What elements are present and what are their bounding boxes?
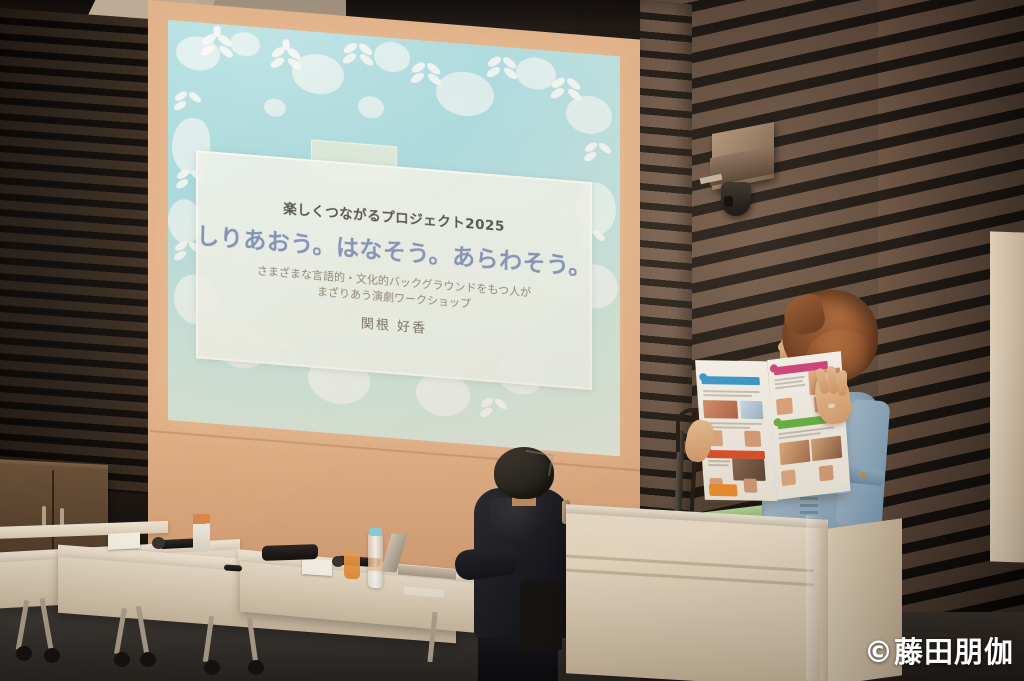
slide-pattern-leaf xyxy=(168,82,208,125)
slide-pattern-leaf xyxy=(474,389,514,432)
microphone-head-icon xyxy=(332,556,344,567)
brochure-section-blue xyxy=(701,376,760,385)
chair-backrest xyxy=(262,544,318,561)
slide-pattern-leaf xyxy=(194,24,240,72)
camera-lens-icon xyxy=(724,196,733,207)
table-caster xyxy=(44,648,60,663)
slide-pattern-leaf xyxy=(480,47,524,93)
brochure-text-line xyxy=(775,384,805,389)
brochure-photo xyxy=(781,469,796,486)
cabinet-door-seam xyxy=(52,470,54,558)
table-caster xyxy=(114,652,130,667)
slide-pattern-leaf xyxy=(264,38,308,84)
brochure-photo xyxy=(776,397,793,415)
presenter-cuff-button xyxy=(860,472,866,478)
brochure-text-line xyxy=(705,422,761,424)
brochure-photo xyxy=(744,431,761,447)
slide-pattern-leaf xyxy=(578,133,618,176)
projection-screen: 楽しくつながるプロジェクト2025 しりあおう。はなそう。あらわそう。 さまざま… xyxy=(168,20,620,456)
seated-person-hat-trim xyxy=(522,450,553,477)
brochure-photo xyxy=(779,440,810,466)
juice-cup xyxy=(344,553,360,580)
podium-corner-edge xyxy=(806,515,828,681)
brochure-photo xyxy=(743,479,757,493)
brochure-footer-box xyxy=(709,484,738,496)
name-card xyxy=(302,558,332,576)
microphone-head-icon xyxy=(152,537,165,549)
brochure-text-line xyxy=(703,390,759,392)
brochure-text-line xyxy=(708,464,728,466)
brochure-photo xyxy=(811,436,842,462)
podium xyxy=(566,513,826,681)
brochure-text-line xyxy=(703,394,751,396)
right-pillar xyxy=(990,231,1024,562)
slide-pattern-leaf xyxy=(544,68,588,114)
table-caster xyxy=(204,660,220,675)
brochure-bullet-icon xyxy=(699,373,708,381)
brochure-photo xyxy=(819,465,834,482)
table-caster xyxy=(140,652,156,667)
slide-text-card: 楽しくつながるプロジェクト2025 しりあおう。はなそう。あらわそう。 さまざま… xyxy=(196,150,592,390)
paper-cup xyxy=(193,514,210,553)
table-caster xyxy=(16,646,32,661)
table-caster xyxy=(248,660,264,675)
slide-pattern-leaf xyxy=(404,53,448,99)
slide-pattern-leaf xyxy=(336,34,380,80)
name-card xyxy=(108,532,140,550)
brochure-text-line xyxy=(708,460,730,462)
brochure-photo xyxy=(732,458,766,481)
presentation-photo: 楽しくつながるプロジェクト2025 しりあおう。はなそう。あらわそう。 さまざま… xyxy=(0,0,1024,681)
chair-of-seated-person xyxy=(520,580,562,650)
microphone-icon xyxy=(224,564,242,571)
brochure-photo xyxy=(740,401,763,419)
slide-author-name: 関根 好香 xyxy=(361,312,427,336)
copyright-watermark: ©藤田朋伽 xyxy=(864,629,1014,671)
bottle-cap xyxy=(369,528,382,537)
brochure-photo xyxy=(703,400,738,419)
presenter-finger xyxy=(838,370,847,396)
